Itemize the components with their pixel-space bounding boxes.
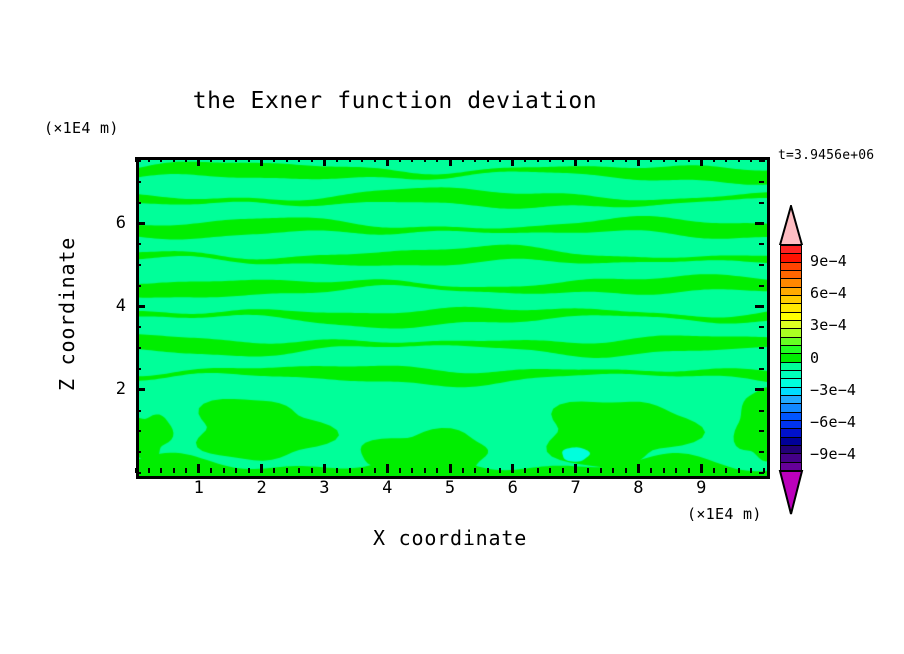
x-tick-major-top [323,157,326,166]
contour-figure: the Exner function deviation (×1E4 m) (×… [0,0,904,654]
x-tick-minor [650,468,652,473]
y-tick-minor [136,285,141,287]
x-tick-minor [750,468,752,473]
colorbar-tick-label: 0 [810,349,819,367]
x-tick-major [197,464,200,473]
x-tick-major-top [511,157,514,166]
x-tick-minor-top [411,157,413,162]
x-tick-minor [612,468,614,473]
x-tick-minor [625,468,627,473]
x-tick-minor [148,468,150,473]
colorbar-tick-label: 6e−4 [810,284,847,302]
x-tick-minor [738,468,740,473]
x-tick-minor [562,468,564,473]
y-tick-major [136,388,145,391]
y-tick-minor-right [759,368,764,370]
x-tick-minor [248,468,250,473]
x-tick-major [386,464,389,473]
colorbar-over-arrow [778,205,804,245]
x-tick-minor [537,468,539,473]
x-tick-minor-top [549,157,551,162]
x-tick-label: 6 [498,478,528,498]
x-tick-minor [160,468,162,473]
y-tick-minor [136,243,141,245]
y-tick-major [136,305,145,308]
x-tick-minor [713,468,715,473]
y-tick-minor-right [759,451,764,453]
colorbar-tick-label: −9e−4 [810,445,856,463]
y-tick-label: 6 [96,213,126,233]
y-axis-unit-label: (×1E4 m) [44,119,119,137]
contour-field [139,160,767,476]
y-tick-minor-right [759,160,764,162]
y-tick-minor [136,347,141,349]
x-tick-label: 5 [435,478,465,498]
y-tick-minor [136,410,141,412]
x-axis-title: X coordinate [136,526,764,550]
x-tick-major-top [260,157,263,166]
x-tick-minor-top [650,157,652,162]
x-tick-minor [374,468,376,473]
x-axis-unit-label: (×1E4 m) [687,505,762,523]
x-tick-minor [474,468,476,473]
y-tick-minor [136,326,141,328]
x-tick-minor [361,468,363,473]
x-tick-minor-top [286,157,288,162]
y-tick-minor [136,264,141,266]
colorbar-labels: 9e−46e−43e−40−3e−4−6e−4−9e−4 [810,205,900,515]
x-tick-minor-top [160,157,162,162]
x-tick-major-top [197,157,200,166]
x-tick-minor-top [688,157,690,162]
x-tick-minor-top [474,157,476,162]
x-tick-label: 2 [247,478,277,498]
x-tick-major [700,464,703,473]
x-tick-minor-top [185,157,187,162]
x-tick-minor-top [462,157,464,162]
x-tick-minor-top [210,157,212,162]
x-tick-minor [688,468,690,473]
y-tick-minor [136,472,141,474]
x-tick-minor [286,468,288,473]
y-tick-major-right [755,388,764,391]
x-tick-minor-top [361,157,363,162]
x-tick-minor [600,468,602,473]
x-tick-label: 1 [184,478,214,498]
x-tick-major [260,464,263,473]
colorbar-tick-label: 9e−4 [810,252,847,270]
x-tick-minor [549,468,551,473]
x-tick-minor-top [424,157,426,162]
x-tick-minor [273,468,275,473]
x-tick-minor [399,468,401,473]
x-tick-minor-top [223,157,225,162]
x-tick-major [574,464,577,473]
x-tick-minor [462,468,464,473]
x-tick-minor-top [235,157,237,162]
x-tick-minor-top [625,157,627,162]
x-tick-major-top [637,157,640,166]
x-tick-minor-top [524,157,526,162]
x-tick-minor [298,468,300,473]
colorbar-tick-label: −3e−4 [810,381,856,399]
y-tick-major-right [755,222,764,225]
x-tick-minor [725,468,727,473]
x-tick-minor [235,468,237,473]
plot-area [136,157,770,479]
x-tick-major-top [700,157,703,166]
y-tick-major [136,222,145,225]
x-tick-label: 7 [561,478,591,498]
x-tick-minor [499,468,501,473]
x-tick-minor [210,468,212,473]
x-tick-major [511,464,514,473]
x-tick-minor-top [273,157,275,162]
y-tick-minor [136,451,141,453]
x-tick-minor-top [663,157,665,162]
y-tick-minor [136,181,141,183]
x-tick-major [323,464,326,473]
y-tick-label: 2 [96,379,126,399]
x-tick-minor [436,468,438,473]
x-tick-major-top [574,157,577,166]
y-tick-minor-right [759,264,764,266]
y-tick-minor-right [759,285,764,287]
x-tick-label: 9 [686,478,716,498]
x-tick-minor [311,468,313,473]
y-tick-label: 4 [96,296,126,316]
x-tick-minor-top [248,157,250,162]
y-tick-minor [136,160,141,162]
y-tick-minor-right [759,326,764,328]
x-tick-minor-top [436,157,438,162]
x-tick-minor-top [336,157,338,162]
x-tick-major [637,464,640,473]
x-tick-minor [173,468,175,473]
x-tick-minor-top [537,157,539,162]
y-tick-minor-right [759,430,764,432]
x-tick-minor-top [298,157,300,162]
page-title: the Exner function deviation [0,88,790,114]
x-tick-minor-top [713,157,715,162]
y-tick-minor [136,368,141,370]
x-tick-minor-top [349,157,351,162]
x-tick-minor [223,468,225,473]
x-tick-label: 3 [309,478,339,498]
x-tick-minor [411,468,413,473]
x-tick-minor [587,468,589,473]
y-tick-minor-right [759,243,764,245]
x-tick-major-top [449,157,452,166]
x-tick-minor-top [311,157,313,162]
x-tick-label: 4 [372,478,402,498]
x-tick-minor [487,468,489,473]
x-tick-minor-top [487,157,489,162]
x-tick-minor [675,468,677,473]
x-tick-minor-top [675,157,677,162]
y-tick-minor [136,202,141,204]
x-tick-label: 8 [623,478,653,498]
x-tick-minor [424,468,426,473]
timestamp-annotation: t=3.9456e+06 [778,148,874,163]
y-axis-title: Z coordinate [55,224,79,404]
x-tick-minor [524,468,526,473]
y-tick-minor-right [759,347,764,349]
x-tick-minor-top [374,157,376,162]
y-tick-minor-right [759,410,764,412]
y-tick-major-right [755,305,764,308]
x-tick-minor-top [148,157,150,162]
x-tick-minor [663,468,665,473]
x-tick-minor-top [612,157,614,162]
x-tick-minor [336,468,338,473]
y-tick-minor-right [759,181,764,183]
x-tick-minor-top [725,157,727,162]
colorbar-tick-label: 3e−4 [810,316,847,334]
y-tick-minor [136,430,141,432]
x-tick-minor-top [173,157,175,162]
x-tick-major-top [386,157,389,166]
x-tick-major [449,464,452,473]
x-tick-minor-top [587,157,589,162]
x-tick-minor-top [399,157,401,162]
colorbar-tick-label: −6e−4 [810,413,856,431]
y-tick-minor-right [759,202,764,204]
x-tick-minor [349,468,351,473]
colorbar-under-arrow [778,470,804,515]
x-tick-minor-top [600,157,602,162]
x-tick-minor [185,468,187,473]
x-tick-minor-top [499,157,501,162]
x-tick-minor-top [738,157,740,162]
colorbar [778,205,804,515]
y-tick-minor-right [759,472,764,474]
x-tick-minor-top [750,157,752,162]
x-tick-minor-top [562,157,564,162]
